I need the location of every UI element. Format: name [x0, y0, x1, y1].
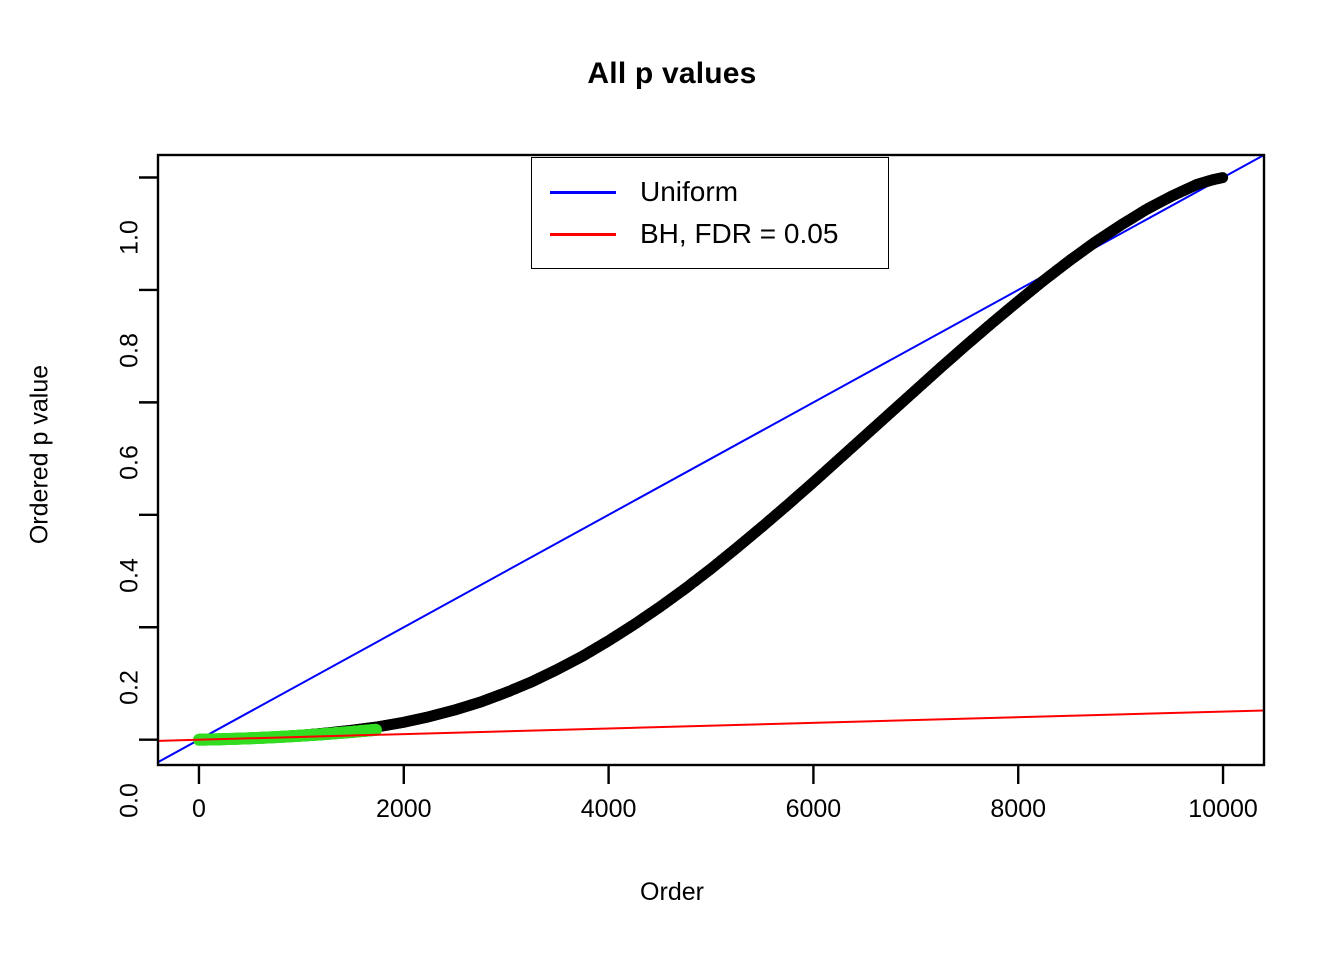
- y-tick-label: 0.6: [116, 403, 145, 523]
- legend-item-uniform: Uniform: [550, 170, 738, 214]
- legend-line-swatch-uniform: [550, 191, 616, 194]
- legend-label-bh: BH, FDR = 0.05: [640, 220, 838, 248]
- y-axis-label: Ordered p value: [26, 295, 55, 615]
- y-tick-label: 0.0: [116, 740, 145, 860]
- chart-legend: Uniform BH, FDR = 0.05: [531, 157, 889, 269]
- y-tick-label: 1.0: [116, 178, 145, 298]
- x-tick-label: 4000: [581, 795, 637, 824]
- x-tick-label: 8000: [990, 795, 1046, 824]
- y-tick-label: 0.2: [116, 628, 145, 748]
- legend-line-swatch-bh: [550, 233, 616, 236]
- plot-canvas: All p values 0200040006000800010000 0.00…: [0, 0, 1344, 960]
- x-tick-label: 10000: [1188, 795, 1258, 824]
- series-bh-line: [158, 710, 1264, 740]
- x-tick-label: 2000: [376, 795, 432, 824]
- legend-item-bh: BH, FDR = 0.05: [550, 212, 838, 256]
- x-axis-label: Order: [0, 878, 1344, 907]
- legend-label-uniform: Uniform: [640, 178, 738, 206]
- x-tick-label: 0: [192, 795, 206, 824]
- y-tick-label: 0.8: [116, 290, 145, 410]
- y-tick-label: 0.4: [116, 515, 145, 635]
- x-tick-label: 6000: [786, 795, 842, 824]
